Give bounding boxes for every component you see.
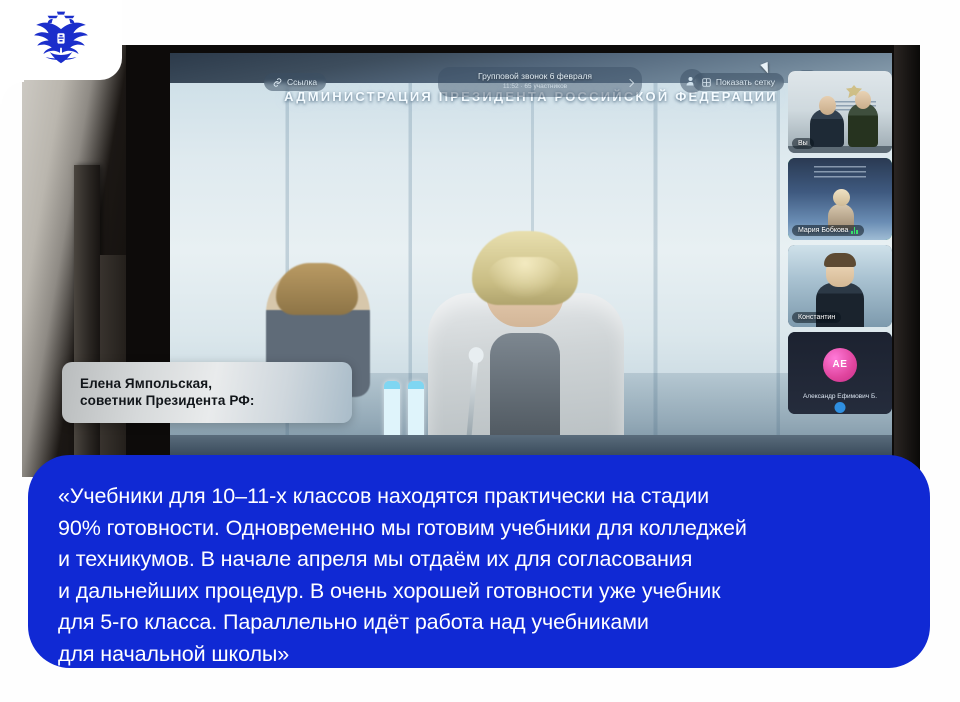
speaker-name: Елена Ямпольская, — [80, 375, 336, 392]
quote-text: «Учебники для 10–11-х классов находятся … — [58, 481, 896, 670]
logo-badge — [0, 0, 122, 80]
participant-tile-speaking[interactable]: Мария Бобкова — [788, 158, 892, 240]
tile-backdrop-text — [814, 166, 866, 178]
tile-person-head — [833, 189, 850, 206]
grid-icon — [702, 78, 711, 87]
tile-person-hair — [824, 253, 856, 267]
news-quote-card: АДМИНИСТРАЦИЯ ПРЕЗИДЕНТА РОССИЙСКОЙ ФЕДЕ… — [0, 0, 960, 702]
tile-person-head — [819, 96, 836, 115]
participant-name: Вы — [792, 138, 814, 149]
call-title: Групповой звонок 6 февраля — [450, 71, 620, 82]
attendee-head-left — [276, 263, 358, 315]
link-icon — [273, 78, 282, 87]
room-wall-right — [894, 45, 920, 477]
call-link-button[interactable]: Ссылка — [264, 73, 326, 91]
call-title-pill[interactable]: Групповой звонок 6 февраля 11:52 · 65 уч… — [438, 67, 642, 97]
avatar: АЕ — [823, 348, 857, 382]
tile-person-head — [855, 91, 871, 109]
participant-tile-konstantin[interactable]: Константин — [788, 245, 892, 327]
participant-name-row: Мария Бобкова — [792, 225, 864, 236]
speaker-attribution: Елена Ямпольская, советник Президента РФ… — [62, 362, 352, 423]
show-grid-button[interactable]: Показать сетку — [693, 73, 784, 91]
chevron-down-icon — [626, 79, 634, 87]
participant-status-icon — [835, 402, 846, 413]
participant-name: Константин — [792, 312, 841, 323]
water-bottle — [384, 381, 400, 439]
speaker-role: советник Президента РФ: — [80, 392, 336, 409]
water-bottle — [408, 381, 424, 439]
speaker-blouse — [490, 333, 560, 443]
call-subtitle: 11:52 · 65 участников — [450, 82, 620, 92]
participant-tile-self[interactable]: Вы — [788, 71, 892, 153]
tile-person — [848, 103, 878, 147]
speaker-hair — [472, 231, 578, 305]
double-headed-eagle-emblem-icon — [30, 11, 92, 69]
call-link-label: Ссылка — [287, 77, 317, 87]
show-grid-label: Показать сетку — [716, 77, 775, 87]
participant-tile-avatar[interactable]: АЕ Александр Ефимович Б. — [788, 332, 892, 414]
mic-level-icon — [851, 227, 858, 234]
participant-filmstrip: Вы Мария Бобкова — [788, 71, 892, 414]
participant-name: Александр Ефимович Б. — [788, 393, 892, 400]
participant-name: Мария Бобкова — [798, 227, 848, 234]
quote-panel: «Учебники для 10–11-х классов находятся … — [28, 455, 930, 668]
